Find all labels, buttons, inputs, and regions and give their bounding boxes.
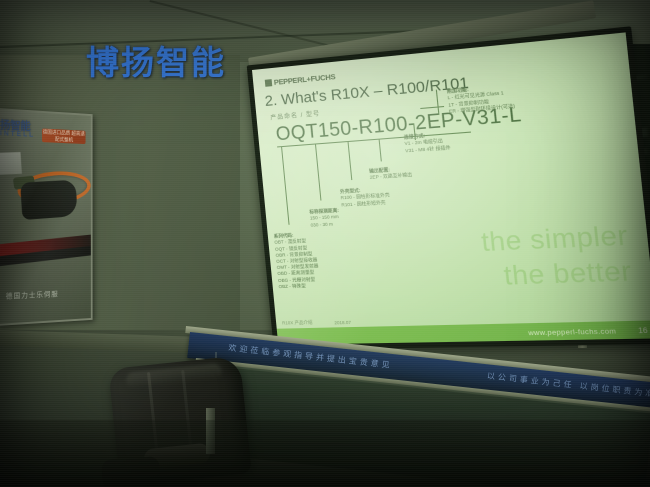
wall-poster: 扬智能 INTELL 德国进口品质 超高适配式整机 德国力士乐伺服 <box>0 108 93 326</box>
note-series: 系列代码: OBT - 漫反射型 OQT - 镜反射型 OBR - 背景抑制型 … <box>273 225 321 290</box>
slide-footer-date: 2018.07 <box>334 320 351 326</box>
leader-line-output <box>379 139 382 162</box>
leader-cross-option <box>420 106 444 109</box>
note-option-body: L - 红光可见光源 Class 1 1T - 背景抑制功能 ER - 增强型耐… <box>447 91 515 114</box>
note-range: 标称探测距离: 150 - 150 mm 030 - 30 m <box>309 202 341 229</box>
poster-glass-gloss <box>0 110 91 324</box>
slide-footer-left: R10X 产品介绍 <box>282 320 313 327</box>
pepperl-fuchs-logo: PEPPERL+FUCHS <box>265 72 336 88</box>
tagline-line-1: the simpler <box>480 220 630 258</box>
note-output: 输出配置: 2EP - 双路互补输出 <box>368 159 412 181</box>
note-connect: 连接方式: V1 - 2m 电缆引出 V31 - M8 4针 接插件 <box>403 125 451 154</box>
photo-scene: 扬智能 INTELL 德国进口品质 超高适配式整机 德国力士乐伺服 PEPPER… <box>0 0 650 487</box>
leader-line-series <box>281 146 290 225</box>
slide-footer-url: www.pepperl-fuchs.com <box>528 328 617 337</box>
note-connect-body: V1 - 2m 电缆引出 V31 - M8 4针 接插件 <box>404 138 451 153</box>
note-housing: 外壳型式: R100 - 圆柱形标准外壳 R101 - 圆柱形短外壳 <box>339 180 391 209</box>
note-range-body: 150 - 150 mm 030 - 30 m <box>310 214 339 227</box>
watermark-text: 博扬智能 <box>86 36 226 84</box>
projection-screen: PEPPERL+FUCHS 2. What's R10X – R100/R101… <box>252 32 650 344</box>
logo-text: PEPPERL+FUCHS <box>273 72 335 87</box>
note-output-body: 2EP - 双路互补输出 <box>370 172 413 180</box>
leader-line-range <box>315 143 322 200</box>
floor-shadow <box>0 420 650 487</box>
note-housing-body: R100 - 圆柱形标准外壳 R101 - 圆柱形短外壳 <box>340 193 390 207</box>
leader-line-housing <box>347 141 352 180</box>
note-option: 附加功能: L - 红光可见光源 Class 1 1T - 背景抑制功能 ER … <box>446 76 515 115</box>
logo-square-icon <box>265 79 273 87</box>
note-series-body: OBT - 漫反射型 OQT - 镜反射型 OBR - 背景抑制型 OCT - … <box>274 239 319 289</box>
slide-subtitle: 产品命名 / 型号 <box>270 108 321 121</box>
screen-surface: PEPPERL+FUCHS 2. What's R10X – R100/R101… <box>252 32 650 344</box>
tagline-line-2: the better <box>502 256 633 292</box>
slide-page-number: 16 <box>638 327 648 335</box>
